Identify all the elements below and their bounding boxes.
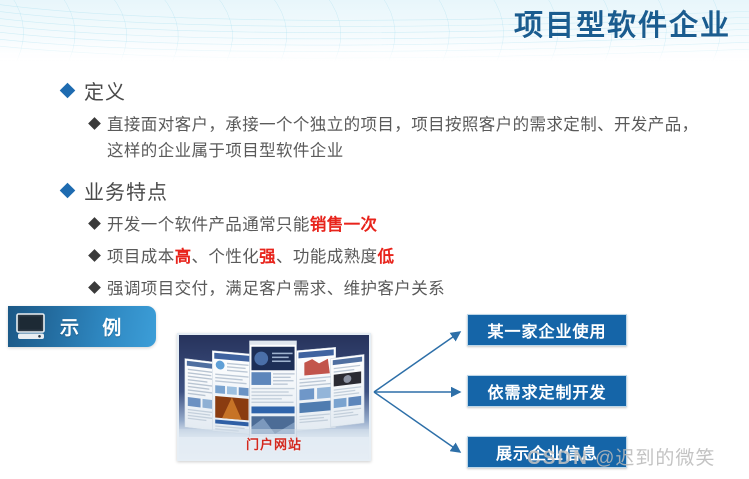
bullet-text-highlight: 销售一次 [310, 216, 378, 234]
bullet-text: 项目成本高、个性化强、功能成熟度低 [107, 244, 394, 270]
bullet-text-plain: 项目成本 [107, 248, 175, 266]
bullet-feature-3: 强调项目交付，满足客户需求、维护客户关系 [90, 276, 700, 302]
example-box-2: 依需求定制开发 [467, 375, 627, 407]
bullet-text: 直接面对客户，承接一个个独立的项目，项目按照客户的需求定制、开发产品，这样的企业… [107, 112, 700, 164]
watermark-brand: CSDN [527, 448, 589, 469]
section-heading-label: 定义 [84, 76, 126, 105]
section-heading-features: 业务特点 [62, 176, 168, 205]
bullet-text: 强调项目交付，满足客户需求、维护客户关系 [107, 276, 445, 302]
page-title: 项目型软件企业 [514, 2, 731, 44]
watermark-user: @迟到的微笑 [595, 448, 715, 469]
bullet-feature-2: 项目成本高、个性化强、功能成熟度低 [90, 244, 700, 270]
bullet-text: 开发一个软件产品通常只能销售一次 [107, 212, 377, 238]
connector-arrows [368, 320, 480, 462]
bullet-text-highlight: 高 [175, 248, 192, 266]
watermark: CSDN @迟到的微笑 [527, 443, 715, 470]
portal-website-screenshot: 门户网站 [177, 333, 371, 461]
slide-canvas: 项目型软件企业 定义 直接面对客户，承接一个个独立的项目，项目按照客户的需求定制… [0, 0, 749, 479]
bullet-text-highlight: 低 [377, 248, 394, 266]
example-banner-label: 示 例 [60, 313, 130, 340]
section-heading-label: 业务特点 [84, 176, 168, 205]
arrow-to-box-3 [374, 392, 460, 452]
diamond-icon [60, 183, 76, 199]
bullet-definition-1: 直接面对客户，承接一个个独立的项目，项目按照客户的需求定制、开发产品，这样的企业… [90, 112, 700, 164]
diamond-icon [88, 281, 101, 294]
diamond-icon [88, 217, 101, 230]
diamond-icon [88, 249, 101, 262]
bullet-text-plain: 、功能成熟度 [276, 248, 377, 266]
example-banner: 示 例 [8, 306, 156, 347]
bullet-feature-1: 开发一个软件产品通常只能销售一次 [90, 212, 700, 238]
slide-header: 项目型软件企业 [0, 0, 749, 62]
section-heading-definition: 定义 [62, 76, 126, 105]
bullet-text-plain: 、个性化 [192, 248, 260, 266]
example-box-1: 某一家企业使用 [467, 314, 627, 346]
monitor-icon [16, 313, 46, 341]
diamond-icon [60, 83, 76, 99]
bullet-text-plain: 开发一个软件产品通常只能 [107, 216, 310, 234]
arrow-to-box-1 [374, 332, 460, 392]
diamond-icon [88, 117, 101, 130]
screenshot-caption: 门户网站 [179, 434, 369, 453]
bullet-text-highlight: 强 [259, 248, 276, 266]
